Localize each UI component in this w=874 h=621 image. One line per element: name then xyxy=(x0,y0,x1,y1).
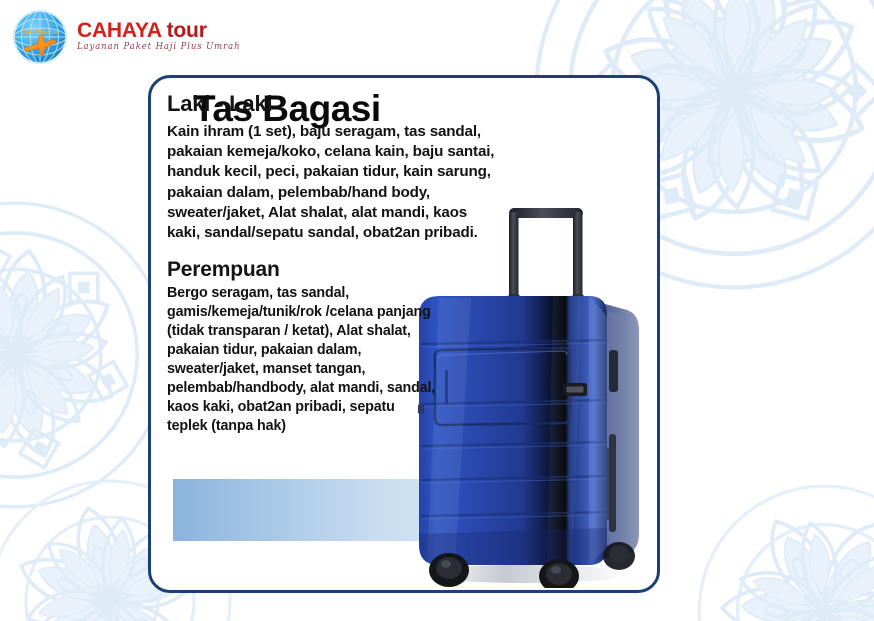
packing-list-sections: Laki - Laki Kain ihram (1 set), baju ser… xyxy=(167,92,567,436)
brand-tagline: Layanan Paket Haji Plus Umrah xyxy=(77,42,240,52)
brand-name: CAHAYA tour xyxy=(77,20,240,42)
section-perempuan: Perempuan Bergo seragam, tas sandal, gam… xyxy=(167,258,567,437)
globe-airplane-logo-icon: CAHAYA tour xyxy=(12,9,68,65)
mandala-ornament-bottom-right xyxy=(664,451,874,621)
brand-name-primary: CAHAYA xyxy=(77,19,161,42)
section-body-perempuan: Bergo seragam, tas sandal, gamis/kemeja/… xyxy=(167,284,567,436)
brand-wordmark: CAHAYA tour Layanan Paket Haji Plus Umra… xyxy=(77,20,240,54)
packing-list-card: Tas Bagasi xyxy=(148,75,660,593)
section-laki-laki: Laki - Laki Kain ihram (1 set), baju ser… xyxy=(167,92,567,244)
section-heading-laki-laki: Laki - Laki xyxy=(167,92,567,117)
brand-name-secondary: tour xyxy=(167,19,207,42)
section-body-laki-laki: Kain ihram (1 set), baju seragam, tas sa… xyxy=(167,122,567,244)
brand-header: CAHAYA tour CAHAYA tour Layanan Paket Ha… xyxy=(12,8,240,66)
section-heading-perempuan: Perempuan xyxy=(167,258,567,282)
poster-canvas: CAHAYA tour CAHAYA tour Layanan Paket Ha… xyxy=(0,0,874,621)
